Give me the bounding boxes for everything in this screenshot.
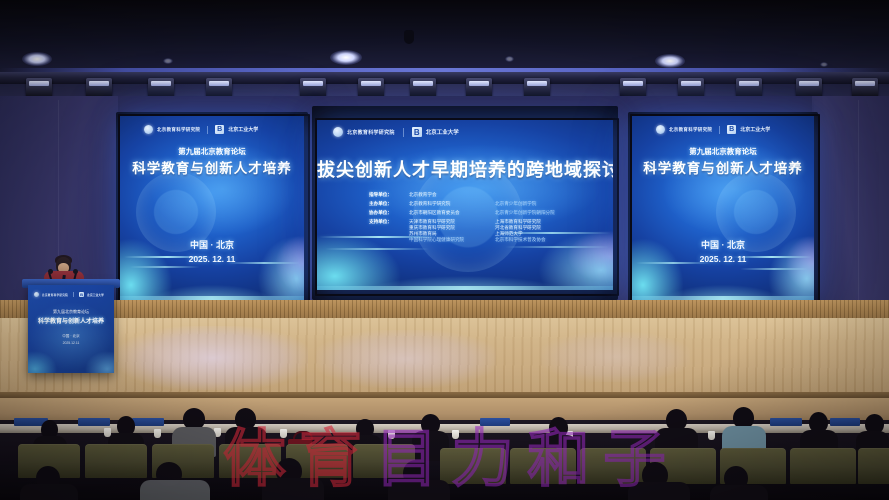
- org-row: 支持单位： 天津市教育科学研究院 重庆市教育科学研究院 苏州市教育局 中国科学院…: [369, 219, 581, 243]
- ceiling-downlight: [163, 58, 173, 64]
- institute-seal-icon: [34, 292, 39, 297]
- right-screen-title: 科学教育与创新人才培养: [632, 157, 814, 177]
- right-screen-kicker: 第九届北京教育论坛: [632, 146, 814, 157]
- ceiling-downlight: [820, 62, 828, 67]
- university-b-icon: B: [412, 127, 422, 137]
- org-row: 协办单位： 北京市朝阳区教育委员会 北京青少年创新学院朝阳分院: [369, 210, 581, 216]
- audience-chair: [85, 444, 147, 478]
- org-item: 中国科学院心理健康研究院: [409, 237, 495, 243]
- right-screen-logos: 北京教育科学研究院 B 北京工业大学: [656, 125, 770, 134]
- logo-divider: [73, 292, 74, 297]
- stage-floor-spotlight: [316, 330, 496, 388]
- org-label: 指导单位：: [369, 192, 409, 198]
- right-logo-label: 北京工业大学: [740, 126, 770, 133]
- ceiling-downlight: [330, 50, 362, 65]
- left-logo-label: 北京教育科学研究院: [157, 127, 200, 133]
- institute-seal-icon: [656, 125, 665, 134]
- stage-light-fixture: [736, 78, 762, 98]
- right-logo-label: 北京工业大学: [426, 128, 459, 136]
- desk-nameplate: [770, 418, 802, 426]
- microphone-head-icon: [48, 269, 53, 274]
- org-item: 北京青少年创新学院: [495, 201, 581, 207]
- stage-light-fixture: [26, 78, 52, 98]
- logo-divider: [207, 126, 208, 134]
- org-item: 北京市科学技术普及协会: [495, 237, 581, 243]
- stage-light-fixture: [524, 78, 550, 98]
- institute-seal-icon: [333, 127, 343, 137]
- org-item: 北京市朝阳区教育委员会: [409, 210, 495, 216]
- stage-light-fixture: [410, 78, 436, 98]
- audience-chair: [580, 448, 646, 484]
- desk-nameplate: [830, 418, 860, 426]
- logo-divider: [403, 128, 404, 137]
- podium-title: 科学教育与创新人才培养: [28, 316, 114, 325]
- left-screen-logos: 北京教育科学研究院 B 北京工业大学: [144, 125, 258, 134]
- right-logo-label: 北京工业大学: [228, 126, 258, 133]
- water-cup: [388, 430, 395, 439]
- org-label: 协办单位：: [369, 210, 409, 216]
- ceiling-downlight: [505, 56, 514, 62]
- wall-panel-edge: [858, 100, 859, 314]
- center-screen-title: 拔尖创新人才早期培养的跨地域探讨: [317, 156, 613, 182]
- podium-logo-right-label: 北京工业大学: [87, 293, 104, 297]
- podium-logo-left-label: 北京教育科学研究院: [42, 293, 68, 297]
- stage-light-fixture: [300, 78, 326, 98]
- water-cup: [154, 429, 161, 438]
- left-logo-label: 北京教育科学研究院: [347, 129, 395, 136]
- stage-light-fixture: [86, 78, 112, 98]
- left-logo-label: 北京教育科学研究院: [669, 127, 712, 133]
- stage-light-fixture: [206, 78, 232, 98]
- stage-floor-spotlight: [540, 332, 690, 382]
- stage-light-fixture: [852, 78, 878, 98]
- center-led-screen: 北京教育科学研究院 B 北京工业大学 拔尖创新人才早期培养的跨地域探讨 指导单位…: [317, 120, 613, 290]
- ceiling-downlight: [22, 52, 52, 66]
- org-row: 指导单位： 北京教育学会: [369, 192, 581, 198]
- conference-hall-photo: 北京教育科学研究院 B 北京工业大学 第九届北京教育论坛 科学教育与创新人才培养…: [0, 0, 889, 500]
- audience-chair: [440, 448, 506, 484]
- right-screen-place: 中国 · 北京: [632, 238, 814, 251]
- podium-subtitle: 中国 · 北京: [28, 334, 114, 339]
- desk-nameplate: [480, 418, 510, 426]
- water-cup: [708, 431, 715, 440]
- stage-light-fixture: [148, 78, 174, 98]
- org-item: 北京青少年创新学院朝阳分院: [495, 210, 581, 216]
- left-screen-place: 中国 · 北京: [120, 238, 304, 251]
- logo-divider: [719, 126, 720, 134]
- stage-light-fixture: [358, 78, 384, 98]
- left-led-screen: 北京教育科学研究院 B 北京工业大学 第九届北京教育论坛 科学教育与创新人才培养…: [120, 116, 304, 300]
- organizing-units-block: 指导单位： 北京教育学会 主办单位： 北京教育科学研究院: [369, 192, 581, 245]
- podium-date: 2025.12.11: [28, 341, 114, 345]
- stage-light-fixture: [466, 78, 492, 98]
- microphone-head-icon: [73, 269, 78, 274]
- podium-kicker: 第九届北京教育论坛: [28, 309, 114, 315]
- ceiling-downlight: [655, 54, 685, 68]
- water-cup: [452, 430, 459, 439]
- org-row: 主办单位： 北京教育科学研究院 北京青少年创新学院: [369, 201, 581, 207]
- left-screen-kicker: 第九届北京教育论坛: [120, 146, 304, 157]
- center-screen-logos: 北京教育科学研究院 B 北京工业大学: [333, 127, 459, 137]
- desk-nameplate: [132, 418, 164, 426]
- org-item: 北京教育科学研究院: [409, 201, 495, 207]
- stage-light-fixture: [620, 78, 646, 98]
- org-label: 支持单位：: [369, 219, 409, 225]
- right-led-screen: 北京教育科学研究院 B 北京工业大学 第九届北京教育论坛 科学教育与创新人才培养…: [632, 116, 814, 300]
- audience-chair: [790, 448, 856, 484]
- podium-logos: 北京教育科学研究院 B 北京工业大学: [34, 292, 104, 297]
- desk-nameplate: [78, 418, 110, 426]
- water-cup: [280, 429, 287, 438]
- university-b-icon: B: [727, 125, 736, 134]
- audience-chair: [510, 448, 576, 484]
- audience-chair: [219, 444, 281, 478]
- university-b-icon: B: [79, 292, 84, 297]
- institute-seal-icon: [144, 125, 153, 134]
- audience-chair: [858, 448, 889, 484]
- ceiling-camera-icon: [404, 30, 414, 44]
- speaking-podium: 北京教育科学研究院 B 北京工业大学 第九届北京教育论坛 科学教育与创新人才培养…: [28, 285, 114, 373]
- stage-floor-spotlight: [118, 326, 308, 390]
- left-screen-date: 2025. 12. 11: [120, 254, 304, 264]
- org-item: 北京教育学会: [409, 192, 495, 198]
- stage-light-fixture: [796, 78, 822, 98]
- stage-light-fixture: [678, 78, 704, 98]
- university-b-icon: B: [215, 125, 224, 134]
- right-screen-date: 2025. 12. 11: [632, 254, 814, 264]
- org-label: 主办单位：: [369, 201, 409, 207]
- left-screen-title: 科学教育与创新人才培养: [120, 157, 304, 177]
